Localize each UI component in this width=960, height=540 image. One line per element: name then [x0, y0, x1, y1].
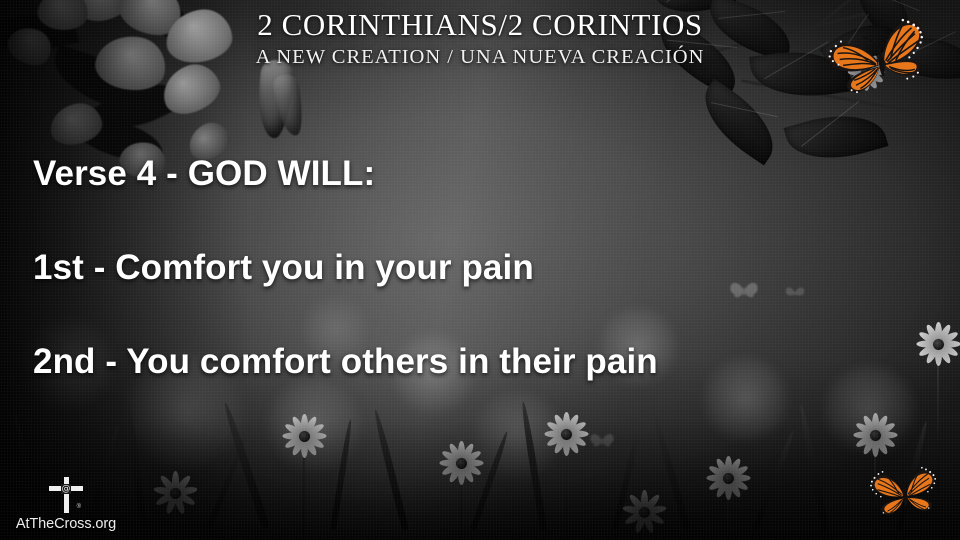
sermon-slide: 2 CORINTHIANS/2 CORINTIOS A NEW CREATION…	[0, 0, 960, 540]
background-halftone-texture	[0, 0, 960, 540]
monarch-butterfly-top-right	[818, 14, 944, 110]
at-symbol: @	[61, 484, 71, 494]
attheCross-logo[interactable]: @ ® AtTheCross.org	[10, 477, 122, 532]
registered-mark: ®	[77, 504, 81, 510]
logo-text: AtTheCross.org	[10, 516, 122, 532]
monarch-butterfly-bottom-right	[862, 462, 948, 528]
cross-icon: @ ®	[49, 477, 83, 513]
